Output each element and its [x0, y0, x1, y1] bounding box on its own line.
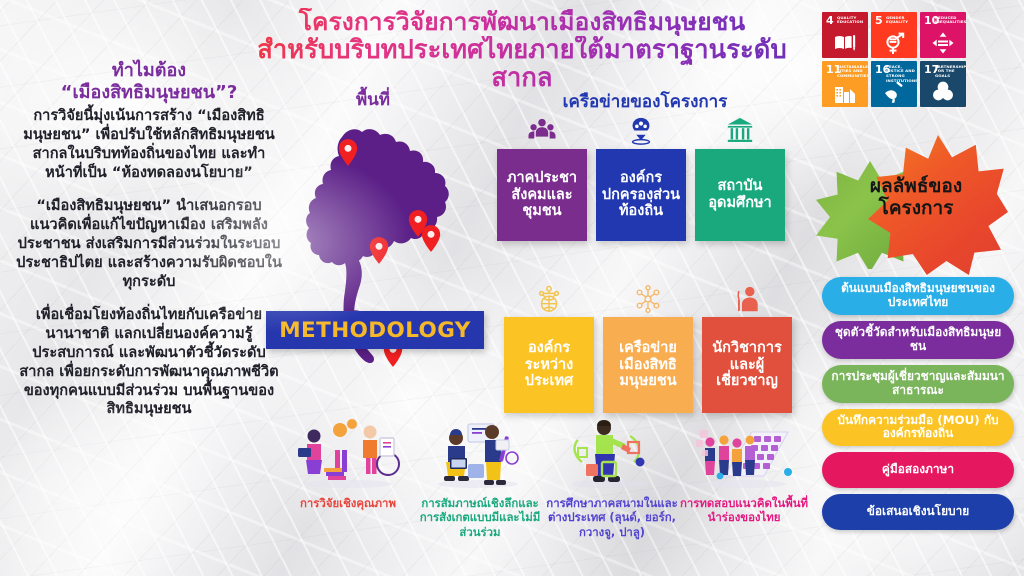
- network-card-label: นักวิชาการและผู้เชี่ยวชาญ: [705, 340, 789, 390]
- group-people-icon: [527, 110, 557, 146]
- fieldwork-person-icon: [552, 418, 672, 490]
- sdg-number: 5: [875, 15, 883, 26]
- network-card-international-org[interactable]: องค์กรระหว่างประเทศ: [504, 278, 594, 413]
- method-item-qualitative-research: การวิจัยเชิงคุณภาพ: [282, 418, 414, 539]
- network-card-local-government-body[interactable]: องค์กรปกครองส่วนท้องถิ่น: [596, 149, 686, 241]
- infographic-poster: โครงการวิจัยการพัฒนาเมืองสิทธิมนุษยชน สำ…: [0, 0, 1024, 576]
- sdg-number: 4: [826, 15, 834, 26]
- result-pill-label: การประชุมผู้เชี่ยวชาญและสัมมนาสาธารณะ: [830, 370, 1006, 398]
- result-pill-label: ต้นแบบเมืองสิทธิมนุษยชนของประเทศไทย: [830, 282, 1006, 310]
- network-card-label: เครือข่ายเมืองสิทธิมนุษยชน: [606, 340, 690, 390]
- sdg-tile-16: 16 PEACE, JUSTICE AND STRONG INSTITUTION…: [871, 61, 917, 107]
- project-results-burst: ผลลัพธ์ของ โครงการ: [812, 135, 1020, 265]
- globe-network-icon: [534, 278, 564, 314]
- method-item-pilot-testing: การทดสอบแนวคิดในพื้นที่นำร่องของไทย: [678, 418, 810, 539]
- result-pill-bilingual-handbook[interactable]: คู่มือสองภาษา: [822, 452, 1014, 488]
- sdg-label: REDUCED INEQUALITIES: [935, 16, 964, 26]
- equals-arrows-icon: [920, 30, 966, 56]
- result-pill-label: ชุดตัวชี้วัดสำหรับเมืองสิทธิมนุษยชน: [830, 326, 1006, 354]
- method-label: การวิจัยเชิงคุณภาพ: [300, 496, 396, 510]
- burst-label: ผลลัพธ์ของ โครงการ: [812, 175, 1020, 219]
- sdg-tile-4: 4 QUALITY EDUCATION: [822, 12, 868, 58]
- interview-laptop-icon: [420, 418, 540, 490]
- map-pin-4: [369, 237, 389, 264]
- body-paragraph-3: เพื่อเชื่อมโยงท้องถิ่นไทยกับเครือข่ายนาน…: [16, 306, 282, 420]
- area-heading: พื้นที่: [308, 86, 438, 113]
- network-card-university[interactable]: สถาบันอุดมศึกษา: [695, 110, 785, 241]
- city-buildings-icon: [822, 79, 868, 105]
- network-card-academics[interactable]: นักวิชาการและผู้เชี่ยวชาญ: [702, 278, 792, 413]
- poster-title: โครงการวิจัยการพัฒนาเมืองสิทธิมนุษยชน สำ…: [236, 8, 808, 93]
- why-heading-line2: “เมืองสิทธิมนุษยชน”?: [16, 82, 282, 104]
- university-icon: [725, 110, 755, 146]
- network-card-civil-society-body[interactable]: ภาคประชาสังคมและชุมชน: [497, 149, 587, 241]
- network-card-hr-city-network-body[interactable]: เครือข่ายเมืองสิทธิมนุษยชน: [603, 317, 693, 413]
- local-government-icon: [626, 110, 656, 146]
- why-heading: ทำไมต้อง “เมืองสิทธิมนุษยชน”?: [16, 60, 282, 104]
- methodology-label: METHODOLOGY: [279, 318, 471, 343]
- result-pill-expert-meeting[interactable]: การประชุมผู้เชี่ยวชาญและสัมมนาสาธารณะ: [822, 365, 1014, 403]
- network-card-international-org-body[interactable]: องค์กรระหว่างประเทศ: [504, 317, 594, 413]
- why-heading-line1: ทำไมต้อง: [16, 60, 282, 82]
- network-card-label: องค์กรระหว่างประเทศ: [507, 340, 591, 390]
- results-pill-list: ต้นแบบเมืองสิทธิมนุษยชนของประเทศไทย ชุดต…: [822, 277, 1014, 536]
- network-card-row-2: องค์กรระหว่างประเทศ เครือข่ายเมืองสิทธิม…: [504, 278, 792, 413]
- partnership-rings-icon: [920, 79, 966, 105]
- sdg-label: GENDER EQUALITY: [886, 16, 915, 26]
- network-card-label: องค์กรปกครองส่วนท้องถิ่น: [599, 170, 683, 220]
- network-card-label: สถาบันอุดมศึกษา: [698, 178, 782, 212]
- sdg-tile-5: 5 GENDER EQUALITY: [871, 12, 917, 58]
- pilot-board-icon: [684, 418, 804, 490]
- map-pin-1: [338, 139, 358, 166]
- map-pin-3: [421, 225, 441, 252]
- result-pill-label: ข้อเสนอเชิงนโยบาย: [867, 505, 969, 519]
- sdg-icon-grid: 4 QUALITY EDUCATION 5 GENDER EQUALITY 10: [822, 12, 966, 107]
- title-line-2: สำหรับบริบทประเทศไทยภายใต้มาตราฐานระดับส…: [236, 36, 808, 94]
- network-card-row-1: ภาคประชาสังคมและชุมชน องค์กรปกครองส่วนท้…: [497, 110, 785, 241]
- methodology-items-row: การวิจัยเชิงคุณภาพ: [282, 418, 812, 539]
- method-label: การสัมภาษณ์เชิงลึกและการสังเกตแบบมีและไม…: [414, 496, 546, 539]
- body-paragraph-2: “เมืองสิทธิมนุษยชน” นำเสนอกรอบแนวคิดเพื่…: [16, 197, 282, 292]
- result-pill-policy-proposal[interactable]: ข้อเสนอเชิงนโยบาย: [822, 494, 1014, 530]
- network-card-academics-body[interactable]: นักวิชาการและผู้เชี่ยวชาญ: [702, 317, 792, 413]
- title-line-1: โครงการวิจัยการพัฒนาเมืองสิทธิมนุษยชน: [236, 8, 808, 36]
- burst-label-line1: ผลลัพธ์ของ: [812, 175, 1020, 197]
- network-card-local-government[interactable]: องค์กรปกครองส่วนท้องถิ่น: [596, 110, 686, 241]
- method-label: การศึกษาภาคสนามในและต่างประเทศ (ลุนด์, ย…: [546, 496, 678, 539]
- sdg-label: QUALITY EDUCATION: [837, 16, 866, 26]
- sdg-label: SUSTAINABLE CITIES AND COMMUNITIES: [837, 65, 866, 79]
- body-paragraph-1: การวิจัยนี้มุ่งเน้นการสร้าง “เมืองสิทธิม…: [16, 107, 282, 183]
- network-card-civil-society[interactable]: ภาคประชาสังคมและชุมชน: [497, 110, 587, 241]
- burst-label-line2: โครงการ: [812, 197, 1020, 219]
- network-card-label: ภาคประชาสังคมและชุมชน: [500, 170, 584, 220]
- method-label: การทดสอบแนวคิดในพื้นที่นำร่องของไทย: [678, 496, 810, 525]
- result-pill-label: บันทึกความร่วมมือ (MOU) กับองค์กรท้องถิ่…: [830, 414, 1006, 442]
- sdg-tile-17: 17 PARTNERSHIPS FOR THE GOALS: [920, 61, 966, 107]
- result-pill-label: คู่มือสองภาษา: [882, 463, 954, 477]
- book-pencil-icon: [822, 30, 868, 56]
- sdg-tile-10: 10 REDUCED INEQUALITIES: [920, 12, 966, 58]
- network-card-university-body[interactable]: สถาบันอุดมศึกษา: [695, 149, 785, 241]
- result-pill-mou[interactable]: บันทึกความร่วมมือ (MOU) กับองค์กรท้องถิ่…: [822, 409, 1014, 447]
- speaker-person-icon: [732, 278, 762, 314]
- dove-gavel-icon: [871, 79, 917, 105]
- result-pill-prototype-city[interactable]: ต้นแบบเมืองสิทธิมนุษยชนของประเทศไทย: [822, 277, 1014, 315]
- research-team-icon: [288, 418, 408, 490]
- network-card-hr-city-network[interactable]: เครือข่ายเมืองสิทธิมนุษยชน: [603, 278, 693, 413]
- method-item-interview-observation: การสัมภาษณ์เชิงลึกและการสังเกตแบบมีและไม…: [414, 418, 546, 539]
- gender-equality-icon: [871, 30, 917, 56]
- result-pill-indicator-set[interactable]: ชุดตัวชี้วัดสำหรับเมืองสิทธิมนุษยชน: [822, 321, 1014, 359]
- why-human-rights-city-column: ทำไมต้อง “เมืองสิทธิมนุษยชน”? การวิจัยนี…: [16, 60, 282, 433]
- sdg-tile-11: 11 SUSTAINABLE CITIES AND COMMUNITIES: [822, 61, 868, 107]
- node-network-icon: [633, 278, 663, 314]
- methodology-banner: METHODOLOGY: [266, 311, 484, 349]
- sdg-label: PARTNERSHIPS FOR THE GOALS: [935, 65, 964, 79]
- method-item-field-study: การศึกษาภาคสนามในและต่างประเทศ (ลุนด์, ย…: [546, 418, 678, 539]
